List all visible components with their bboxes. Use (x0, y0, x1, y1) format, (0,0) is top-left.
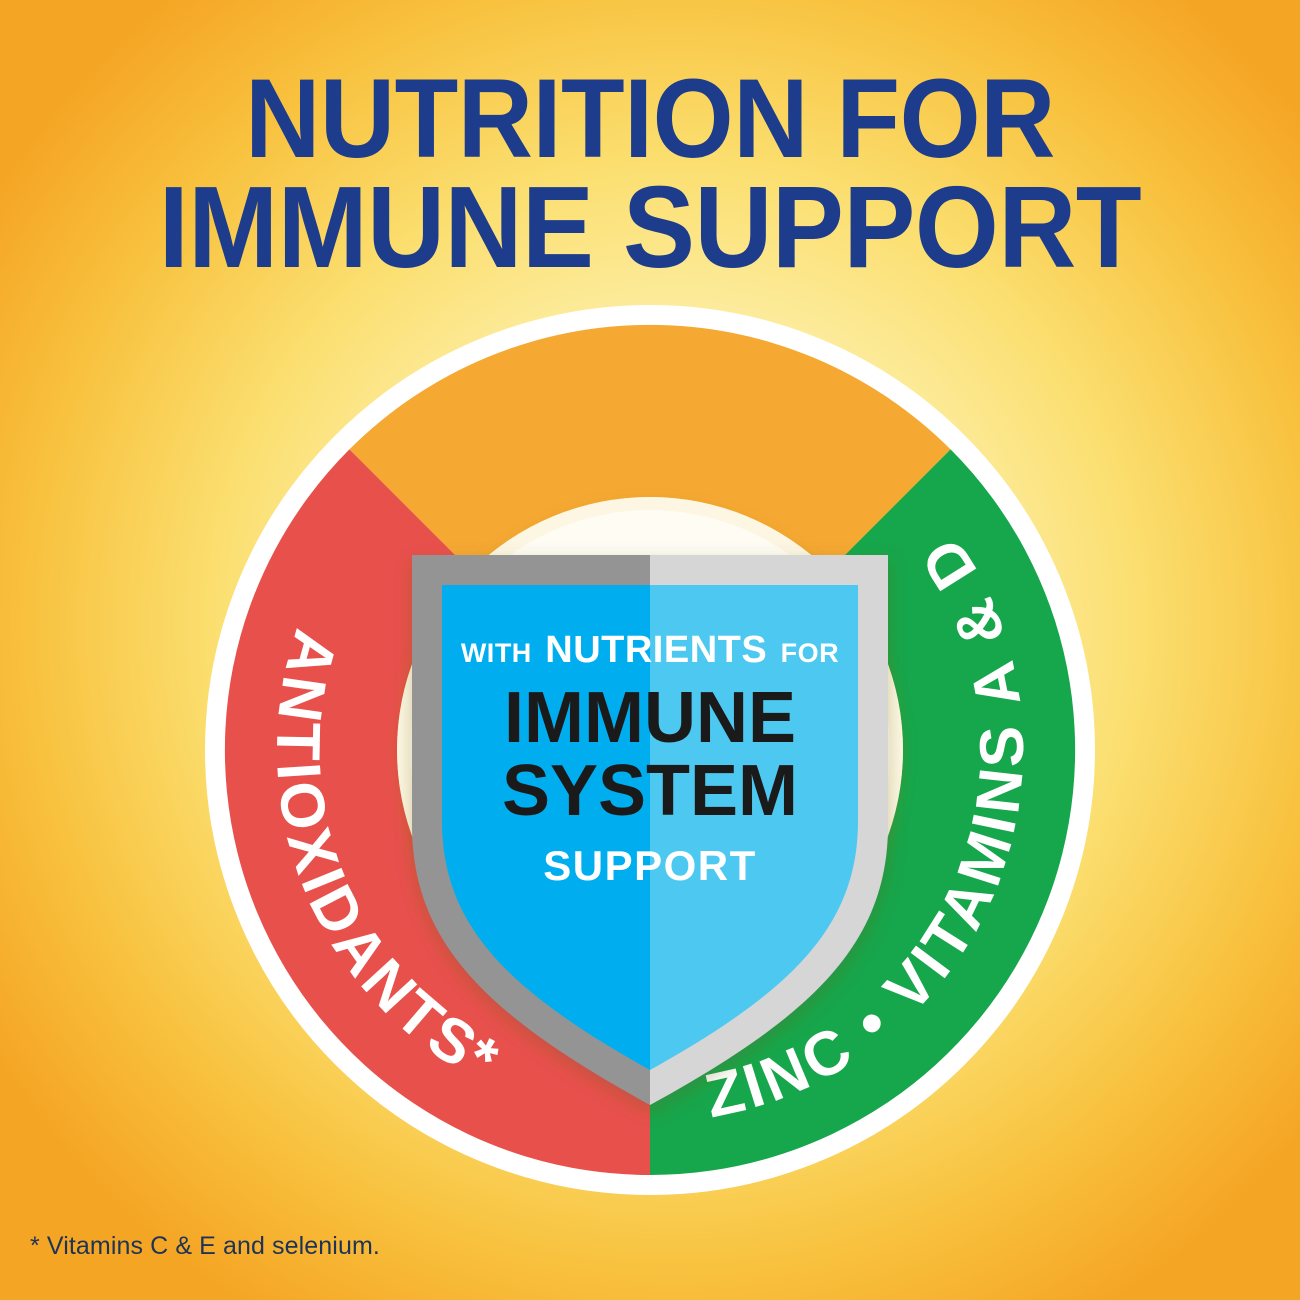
immune-support-wheel: PROTEIN ZINC • VITAMINS A & D ANTIOXIDAN… (205, 305, 1095, 1195)
footnote: * Vitamins C & E and selenium. (30, 1232, 380, 1261)
shield-headline-2: SYSTEM (502, 751, 798, 831)
shield-headline-1: IMMUNE (504, 678, 796, 758)
shield-eyebrow-post: FOR (781, 638, 840, 668)
title-line-2: IMMUNE SUPPORT (46, 172, 1255, 282)
shield-subline: SUPPORT (543, 842, 757, 889)
shield-eyebrow-pre: WITH (461, 638, 532, 668)
shield-eyebrow-main: NUTRIENTS (545, 629, 767, 671)
infographic-poster: NUTRITION FOR IMMUNE SUPPORT (0, 0, 1300, 1300)
page-title: NUTRITION FOR IMMUNE SUPPORT (0, 66, 1300, 283)
title-line-1: NUTRITION FOR (46, 66, 1255, 172)
